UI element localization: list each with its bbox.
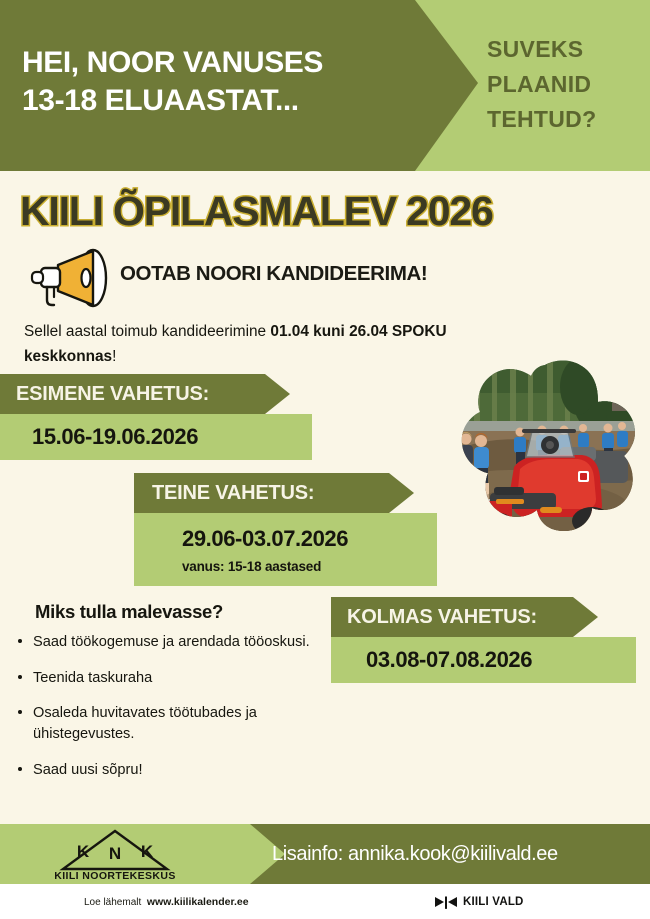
contact-email-line[interactable]: Lisainfo: annika.kook@kiilivald.ee: [272, 824, 558, 884]
list-item: Osaleda huvitavates töötubades ja ühiste…: [14, 703, 324, 744]
shift-1-body: 15.06-19.06.2026: [0, 414, 312, 460]
dragonfly-mark-icon: [434, 896, 458, 909]
page-title: KIILI ÕPILASMALEV 2026: [20, 188, 640, 235]
shift-3-dates: 03.08-07.08.2026: [366, 647, 636, 673]
intro-part1: Sellel aastal toimub kandideerimine: [24, 323, 270, 340]
header-headline: HEI, NOOR VANUSES 13-18 ELUAASTAT...: [22, 44, 422, 121]
header-question: SUVEKS PLAANID TEHTUD?: [487, 32, 637, 137]
read-more-url[interactable]: www.kiilikalender.ee: [147, 896, 249, 908]
shift-3-heading: KOLMAS VAHETUS:: [331, 597, 598, 637]
shift-2-body: 29.06-03.07.2026 vanus: 15-18 aastased: [134, 513, 437, 586]
intro-part3: !: [112, 348, 116, 365]
intro-dates: 01.04 kuni 26.04: [270, 323, 387, 340]
why-join-list: Saad töökogemuse ja arendada tööoskusi. …: [14, 632, 324, 796]
shift-2-age-note: vanus: 15-18 aastased: [182, 559, 437, 574]
list-item: Saad töökogemuse ja arendada tööoskusi.: [14, 632, 324, 653]
svg-text:K: K: [141, 842, 154, 861]
read-more-line: Loe lähemalt www.kiilikalender.ee: [84, 896, 249, 908]
svg-text:N: N: [109, 844, 121, 863]
shift-1-dates: 15.06-19.06.2026: [32, 424, 312, 450]
list-item: Saad uusi sõpru!: [14, 760, 324, 781]
megaphone-icon: [24, 247, 116, 309]
knk-logo: K N K KIILI NOORTEKESKUS: [55, 827, 175, 881]
shift-3-body: 03.08-07.08.2026: [331, 637, 636, 683]
subtitle: OOTAB NOORI KANDIDEERIMA!: [120, 262, 427, 286]
list-item: Teenida taskuraha: [14, 668, 324, 689]
shift-2-dates: 29.06-03.07.2026: [182, 526, 437, 552]
youth-camp-photo: [452, 359, 638, 531]
svg-text:K: K: [77, 842, 90, 861]
shift-1-heading: ESIMENE VAHETUS:: [0, 374, 290, 414]
why-join-title: Miks tulla malevasse?: [35, 601, 223, 623]
header-banner: HEI, NOOR VANUSES 13-18 ELUAASTAT... SUV…: [0, 0, 650, 171]
kiili-vald-name: KIILI VALD: [463, 896, 524, 908]
poster-root: HEI, NOOR VANUSES 13-18 ELUAASTAT... SUV…: [0, 0, 650, 919]
read-more-label: Loe lähemalt: [84, 897, 141, 908]
intro-paragraph: Sellel aastal toimub kandideerimine 01.0…: [24, 320, 454, 370]
svg-text:KIILI NOORTEKESKUS: KIILI NOORTEKESKUS: [55, 870, 175, 881]
shift-2-heading: TEINE VAHETUS:: [134, 473, 414, 513]
